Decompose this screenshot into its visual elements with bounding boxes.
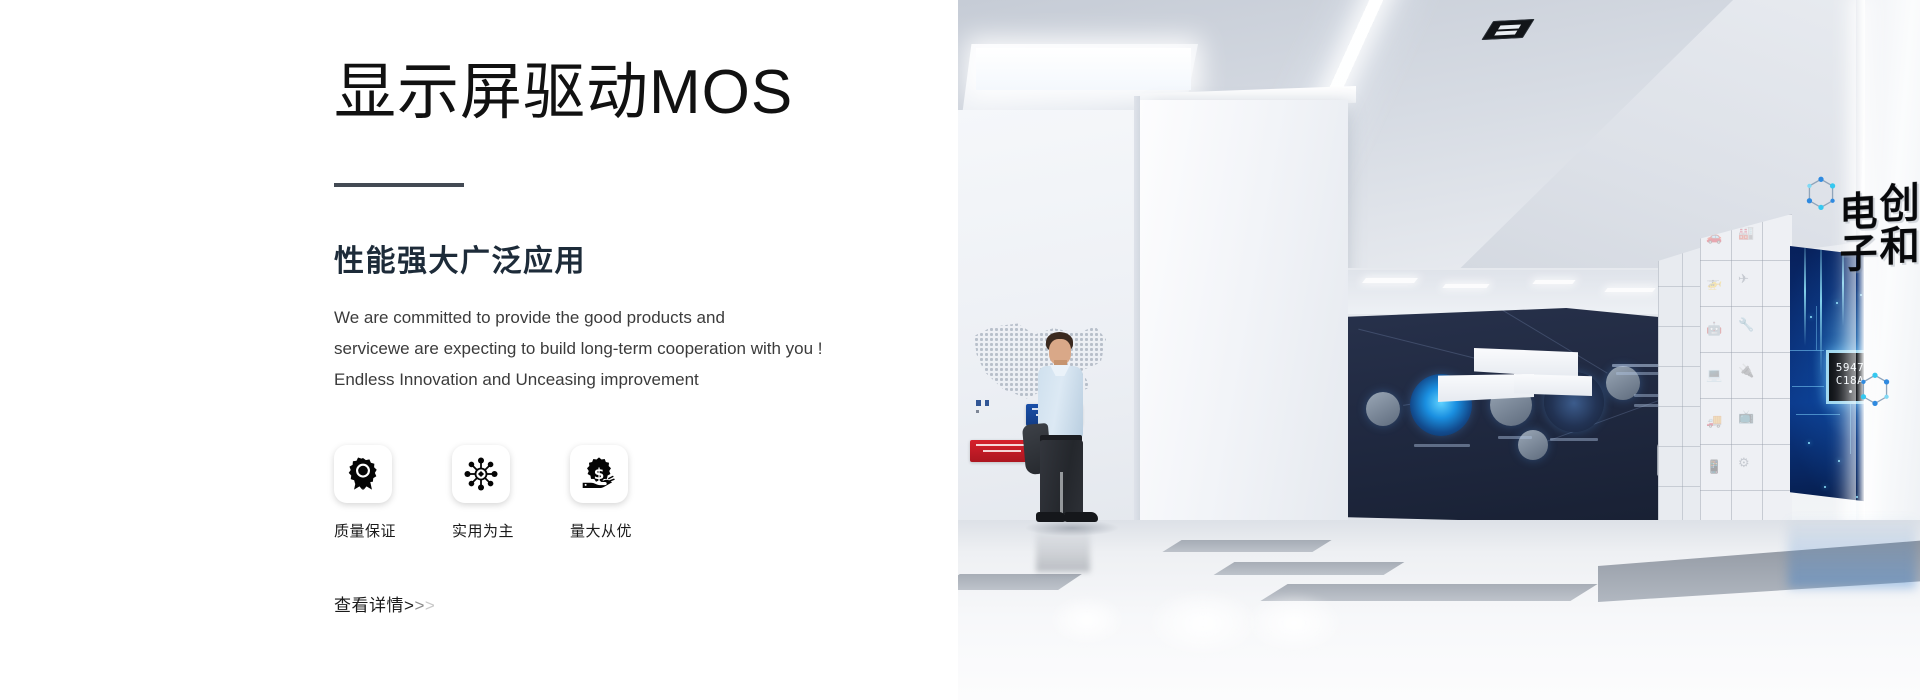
body-line-3: Endless Innovation and Unceasing improve… — [334, 364, 874, 395]
feature-item-quality[interactable]: 质量保证 — [334, 445, 452, 541]
brand-char-zi: 子 — [1839, 234, 1877, 275]
brand-char-dian: 电 — [1839, 191, 1877, 233]
floor-light-reflection — [1246, 594, 1342, 652]
feature-badge: $ — [570, 445, 628, 503]
feature-item-practical[interactable]: 实用为主 — [452, 445, 570, 541]
award-ribbon-icon — [345, 456, 381, 492]
brand-char-chuang: 创 — [1880, 182, 1920, 225]
brand-char-he: 和 — [1880, 226, 1920, 268]
hand-money-icon: $ — [581, 456, 617, 492]
skylight-panel — [976, 48, 1191, 90]
chevron-2-icon: > — [414, 596, 424, 615]
chevron-1-icon: > — [404, 596, 414, 615]
feature-label: 量大从优 — [570, 520, 688, 541]
glass-block-wall-far — [1658, 246, 1706, 546]
feature-list: 质量保证 — [334, 445, 958, 541]
network-hub-icon — [463, 456, 499, 492]
svg-text:$: $ — [594, 465, 605, 483]
showroom-photo: 🚗 🏭 🚁 ✈ 🤖 🔧 💻 🔌 🚚 📺 📱 ⚙ — [958, 0, 1920, 700]
brand-sign-column-a: 创 和 — [1880, 182, 1920, 395]
wall-brand-sign: 创 和 电 子 — [1814, 182, 1920, 395]
page-title: 显示屏驱动MOS — [334, 60, 958, 127]
exhibit-medallion — [1518, 430, 1548, 460]
feature-label: 质量保证 — [334, 520, 452, 541]
feature-badge — [452, 445, 510, 503]
left-text-panel: 显示屏驱动MOS 性能强大广泛应用 We are committed to pr… — [0, 0, 958, 700]
floor-inlay-strip — [1162, 540, 1331, 552]
feature-item-bulk-discount[interactable]: $ 量大从优 — [570, 445, 688, 541]
exhibit-medallion — [1366, 392, 1400, 426]
floor-light-reflection — [1050, 596, 1124, 644]
brand-sign-column-b: 电 子 — [1839, 185, 1877, 392]
floor-inlay-strip — [1214, 562, 1405, 575]
body-copy: We are committed to provide the good pro… — [334, 302, 874, 395]
view-details-label: 查看详情 — [334, 596, 404, 615]
glass-block-wall: 🚗 🏭 🚁 ✈ 🤖 🔧 💻 🔌 🚚 📺 📱 ⚙ — [1700, 214, 1792, 566]
view-details-link[interactable]: 查看详情>>> — [334, 591, 435, 616]
title-divider — [334, 183, 464, 187]
floor-light-reflection — [1148, 590, 1258, 656]
screen-floor-reflection — [1788, 516, 1916, 588]
exhibition-wall — [1348, 308, 1700, 526]
far-ceiling — [1348, 270, 1700, 314]
feature-label: 实用为主 — [452, 520, 570, 541]
body-line-2: servicewe are expecting to build long-te… — [334, 333, 874, 364]
chevron-3-icon: > — [425, 596, 435, 615]
visitor-man — [1020, 332, 1102, 526]
body-line-1: We are committed to provide the good pro… — [334, 302, 874, 333]
hero-banner: 显示屏驱动MOS 性能强大广泛应用 We are committed to pr… — [0, 0, 1920, 700]
feature-badge — [334, 445, 392, 503]
sub-title: 性能强大广泛应用 — [334, 243, 958, 281]
wall-logo-mark — [976, 400, 1016, 416]
hanging-soffit — [1514, 374, 1592, 396]
